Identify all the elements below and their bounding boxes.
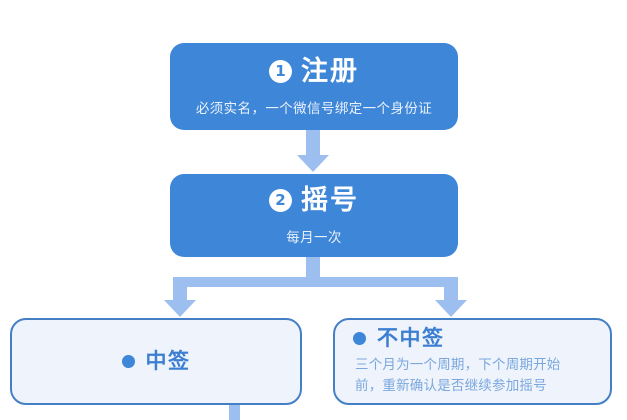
step-number-badge-1: 1: [269, 60, 292, 83]
bullet-dot-icon: [122, 355, 135, 368]
step-1-subtitle: 必须实名，一个微信号绑定一个身份证: [196, 97, 432, 117]
bullet-dot-icon: [353, 332, 366, 345]
continuation-stub: [229, 404, 240, 420]
outcome-not-won-body-line-2: 前，重新确认是否继续参加摇号: [355, 376, 596, 397]
flowchart-canvas: 1 注册 必须实名，一个微信号绑定一个身份证 2 摇号 每月一次 中签 不中签 …: [0, 0, 627, 420]
step-number-badge-2: 2: [269, 189, 292, 212]
step-box-lottery[interactable]: 2 摇号 每月一次: [170, 174, 458, 257]
step-2-subtitle: 每月一次: [286, 226, 342, 246]
step-2-title: 摇号: [301, 185, 359, 216]
outcome-box-not-won[interactable]: 不中签 三个月为一个周期，下个周期开始 前，重新确认是否继续参加摇号: [333, 318, 612, 405]
step-2-heading: 2 摇号: [269, 185, 359, 216]
outcome-won-title: 中签: [146, 349, 191, 374]
branch-connector-step2-to-outcomes: [164, 257, 467, 317]
outcome-box-won[interactable]: 中签: [10, 318, 302, 405]
outcome-won-heading: 中签: [122, 349, 191, 374]
outcome-not-won-title: 不中签: [377, 326, 445, 351]
arrow-step1-to-step2: [297, 130, 329, 172]
outcome-not-won-body: 三个月为一个周期，下个周期开始 前，重新确认是否继续参加摇号: [355, 355, 596, 397]
step-1-heading: 1 注册: [269, 56, 359, 87]
step-box-register[interactable]: 1 注册 必须实名，一个微信号绑定一个身份证: [170, 43, 458, 130]
outcome-not-won-heading: 不中签: [353, 326, 596, 351]
outcome-not-won-body-line-1: 三个月为一个周期，下个周期开始: [355, 355, 596, 376]
step-1-title: 注册: [301, 56, 359, 87]
